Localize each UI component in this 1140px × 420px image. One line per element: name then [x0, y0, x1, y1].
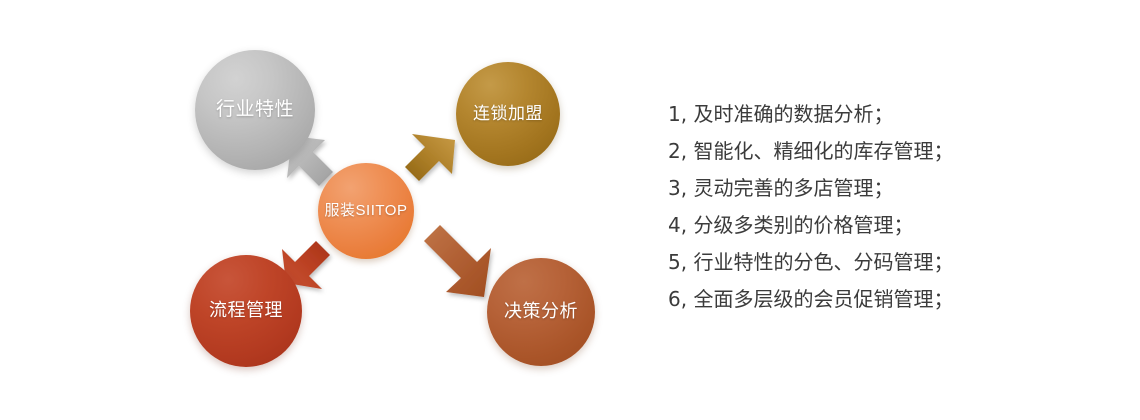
feature-list-item: 4, 分级多类别的价格管理； [668, 207, 1098, 244]
diagram-node-center[interactable]: 服装SIITOP [318, 163, 414, 259]
diagram-node-decision-label: 决策分析 [504, 302, 578, 322]
feature-list-item: 2, 智能化、精细化的库存管理； [668, 133, 1098, 170]
diagram-node-chain-label: 连锁加盟 [473, 105, 543, 124]
diagram-node-chain[interactable]: 连锁加盟 [456, 62, 560, 166]
feature-list: 1, 及时准确的数据分析； 2, 智能化、精细化的库存管理； 3, 灵动完善的多… [668, 96, 1098, 318]
arrow-to-chain [405, 134, 455, 181]
diagram-node-process[interactable]: 流程管理 [190, 255, 302, 367]
diagram-node-industry-label: 行业特性 [216, 100, 294, 121]
diagram-node-center-label: 服装SIITOP [325, 203, 408, 220]
feature-list-item: 1, 及时准确的数据分析； [668, 96, 1098, 133]
arrow-to-decision [424, 225, 491, 297]
diagram-node-decision[interactable]: 决策分析 [487, 258, 595, 366]
feature-list-item: 3, 灵动完善的多店管理； [668, 170, 1098, 207]
diagram-node-process-label: 流程管理 [209, 301, 283, 321]
feature-list-item: 6, 全面多层级的会员促销管理； [668, 281, 1098, 318]
feature-list-item: 5, 行业特性的分色、分码管理； [668, 244, 1098, 281]
diagram-canvas: 服装SIITOP 行业特性 连锁加盟 流程管理 决策分析 [0, 0, 640, 420]
diagram-node-industry[interactable]: 行业特性 [195, 50, 315, 170]
